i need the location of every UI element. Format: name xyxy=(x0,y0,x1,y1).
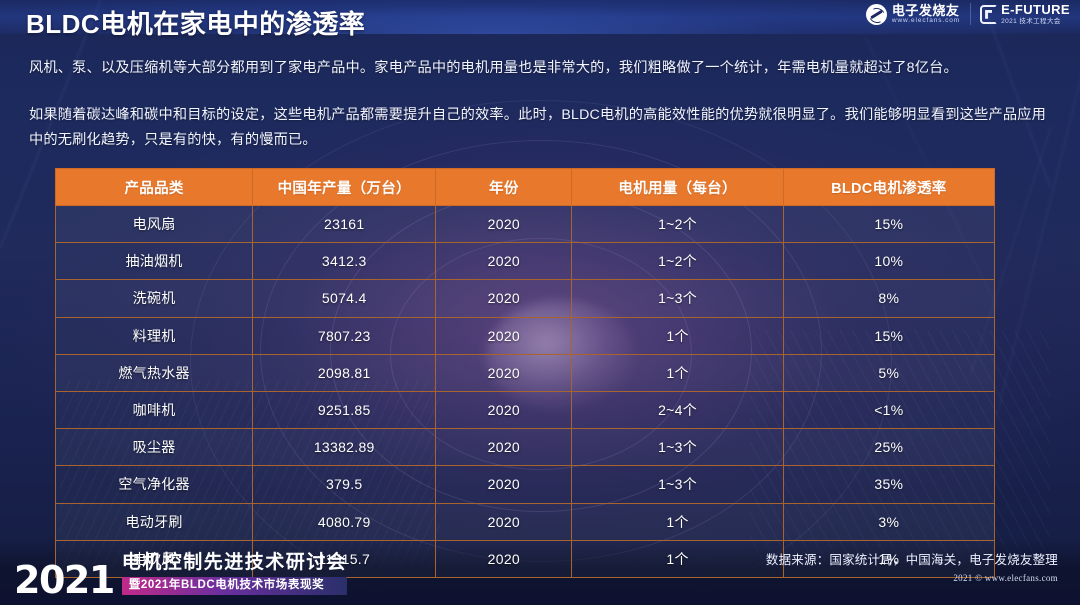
cell-penetration: 3% xyxy=(783,503,994,540)
copyright-text: 2021 © www.elecfans.com xyxy=(953,573,1058,583)
table-row: 电动牙刷 4080.79 2020 1个 3% xyxy=(56,503,995,540)
column-header-motor-usage: 电机用量（每台） xyxy=(572,169,783,206)
cell-year: 2020 xyxy=(436,206,572,243)
elecfans-logo-name: 电子发烧友 xyxy=(892,4,960,18)
table-row: 洗碗机 5074.4 2020 1~3个 8% xyxy=(56,280,995,317)
cell-output: 7807.23 xyxy=(253,317,436,354)
logo-row: 电子发烧友 www.elecfans.com E-FUTURE 2021 技术工… xyxy=(866,3,1070,25)
table-row: 咖啡机 9251.85 2020 2~4个 <1% xyxy=(56,391,995,428)
table-row: 空气净化器 379.5 2020 1~3个 35% xyxy=(56,466,995,503)
elecfans-logo: 电子发烧友 www.elecfans.com xyxy=(866,4,960,25)
cell-category: 电风扇 xyxy=(56,206,253,243)
cell-category: 洗碗机 xyxy=(56,280,253,317)
cell-motor-usage: 1~2个 xyxy=(572,206,783,243)
cell-penetration: 10% xyxy=(783,243,994,280)
brand-main-title: 电机控制先进技术研讨会 xyxy=(122,553,348,574)
table-row: 燃气热水器 2098.81 2020 1个 5% xyxy=(56,354,995,391)
cell-penetration: 5% xyxy=(783,354,994,391)
cell-category: 电动牙刷 xyxy=(56,503,253,540)
cell-year: 2020 xyxy=(436,317,572,354)
column-header-penetration: BLDC电机渗透率 xyxy=(783,169,994,206)
cell-motor-usage: 1~3个 xyxy=(572,280,783,317)
page-title: BLDC电机在家电中的渗透率 xyxy=(26,4,365,41)
cell-output: 4080.79 xyxy=(253,503,436,540)
paragraph-2: 如果随着碳达峰和碳中和目标的设定，这些电机产品都需要提升自己的效率。此时，BLD… xyxy=(29,103,1053,153)
cell-year: 2020 xyxy=(436,243,572,280)
column-header-category: 产品品类 xyxy=(56,169,253,206)
brand-subtitle-bar: 暨2021年BLDC电机技术市场表现奖 xyxy=(122,577,348,595)
cell-year: 2020 xyxy=(436,540,572,577)
elecfans-mark-icon xyxy=(866,4,887,25)
brand-subtitle: 暨2021年BLDC电机技术市场表现奖 xyxy=(129,579,340,592)
cell-motor-usage: 2~4个 xyxy=(572,391,783,428)
cell-category: 燃气热水器 xyxy=(56,354,253,391)
cell-category: 吸尘器 xyxy=(56,429,253,466)
cell-motor-usage: 1个 xyxy=(572,354,783,391)
efuture-logo: E-FUTURE 2021 技术工程大会 xyxy=(970,3,1070,25)
cell-year: 2020 xyxy=(436,466,572,503)
cell-penetration: 15% xyxy=(783,317,994,354)
cell-output: 5074.4 xyxy=(253,280,436,317)
table-row: 抽油烟机 3412.3 2020 1~2个 10% xyxy=(56,243,995,280)
cell-motor-usage: 1个 xyxy=(572,317,783,354)
efuture-logo-sub: 2021 技术工程大会 xyxy=(1001,18,1070,26)
cell-year: 2020 xyxy=(436,280,572,317)
data-table-wrapper: 产品品类 中国年产量（万台） 年份 电机用量（每台） BLDC电机渗透率 电风扇… xyxy=(55,168,995,578)
table-header-row: 产品品类 中国年产量（万台） 年份 电机用量（每台） BLDC电机渗透率 xyxy=(56,169,995,206)
cell-motor-usage: 1~2个 xyxy=(572,243,783,280)
cell-output: 3412.3 xyxy=(253,243,436,280)
cell-year: 2020 xyxy=(436,354,572,391)
table-row: 电风扇 23161 2020 1~2个 15% xyxy=(56,206,995,243)
cell-penetration: 15% xyxy=(783,206,994,243)
efuture-logo-name: E-FUTURE xyxy=(1001,3,1070,17)
paragraph-1: 风机、泵、以及压缩机等大部分都用到了家电产品中。家电产品中的电机用量也是非常大的… xyxy=(29,56,1053,81)
brand-year: 2021 xyxy=(14,564,114,597)
cell-year: 2020 xyxy=(436,391,572,428)
cell-output: 379.5 xyxy=(253,466,436,503)
cell-year: 2020 xyxy=(436,503,572,540)
cell-category: 空气净化器 xyxy=(56,466,253,503)
cell-category: 抽油烟机 xyxy=(56,243,253,280)
cell-penetration: 8% xyxy=(783,280,994,317)
cell-penetration: 35% xyxy=(783,466,994,503)
table-row: 料理机 7807.23 2020 1个 15% xyxy=(56,317,995,354)
cell-motor-usage: 1~3个 xyxy=(572,466,783,503)
body-paragraphs: 风机、泵、以及压缩机等大部分都用到了家电产品中。家电产品中的电机用量也是非常大的… xyxy=(29,56,1053,153)
slide-root: BLDC电机在家电中的渗透率 电子发烧友 www.elecfans.com E-… xyxy=(0,0,1080,605)
cell-penetration: <1% xyxy=(783,391,994,428)
penetration-rate-table: 产品品类 中国年产量（万台） 年份 电机用量（每台） BLDC电机渗透率 电风扇… xyxy=(55,168,995,578)
cell-output: 13382.89 xyxy=(253,429,436,466)
source-note: 数据来源：国家统计局，中国海关，电子发烧友整理 xyxy=(766,549,1058,568)
cell-output: 2098.81 xyxy=(253,354,436,391)
event-brand-lockup: 2021 电机控制先进技术研讨会 暨2021年BLDC电机技术市场表现奖 xyxy=(14,553,347,597)
efuture-mark-icon xyxy=(980,5,997,24)
cell-category: 料理机 xyxy=(56,317,253,354)
cell-output: 23161 xyxy=(253,206,436,243)
cell-motor-usage: 1个 xyxy=(572,503,783,540)
cell-output: 9251.85 xyxy=(253,391,436,428)
cell-penetration: 25% xyxy=(783,429,994,466)
cell-category: 咖啡机 xyxy=(56,391,253,428)
cell-motor-usage: 1~3个 xyxy=(572,429,783,466)
table-body: 电风扇 23161 2020 1~2个 15% 抽油烟机 3412.3 2020… xyxy=(56,206,995,578)
column-header-year: 年份 xyxy=(436,169,572,206)
brand-text-block: 电机控制先进技术研讨会 暨2021年BLDC电机技术市场表现奖 xyxy=(122,553,348,597)
cell-motor-usage: 1个 xyxy=(572,540,783,577)
table-row: 吸尘器 13382.89 2020 1~3个 25% xyxy=(56,429,995,466)
elecfans-logo-url: www.elecfans.com xyxy=(892,17,960,24)
cell-year: 2020 xyxy=(436,429,572,466)
column-header-output: 中国年产量（万台） xyxy=(253,169,436,206)
